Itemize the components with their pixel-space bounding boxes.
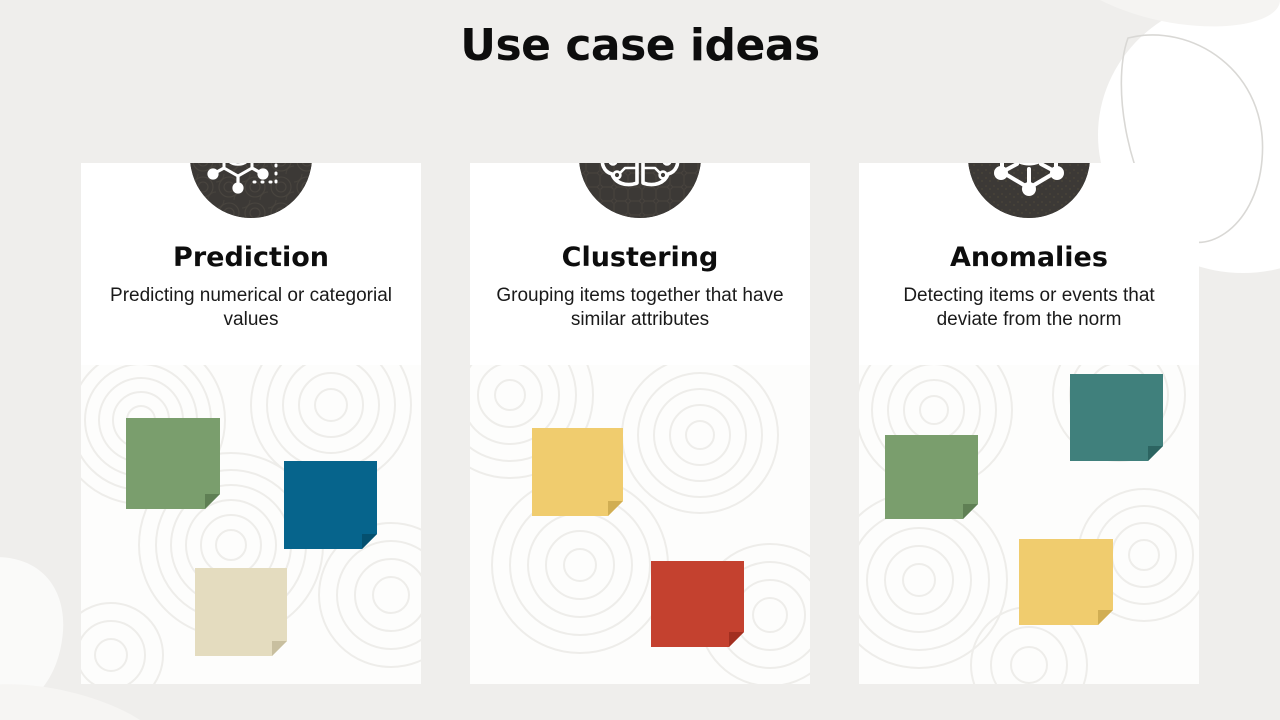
card-description: Grouping items together that have simila… [484, 284, 796, 333]
sticky-note-yellow[interactable] [532, 428, 623, 516]
sticky-note-beige[interactable] [195, 568, 287, 656]
brain-circuit-icon [579, 163, 701, 218]
card-illustration-area [81, 365, 421, 684]
sticky-note-green[interactable] [885, 435, 978, 519]
card-description: Predicting numerical or categorial value… [95, 284, 407, 333]
card-title: Anomalies [873, 243, 1185, 273]
card-title: Clustering [484, 243, 796, 273]
use-case-card-prediction[interactable]: Prediction Predicting numerical or categ… [81, 163, 421, 684]
use-case-card-clustering[interactable]: Clustering Grouping items together that … [470, 163, 810, 684]
swirl-pattern [470, 365, 810, 684]
card-description: Detecting items or events that deviate f… [873, 284, 1185, 333]
sticky-note-blue[interactable] [284, 461, 377, 549]
card-illustration-area [470, 365, 810, 684]
use-case-card-row: Prediction Predicting numerical or categ… [81, 163, 1199, 720]
sticky-note-red[interactable] [651, 561, 744, 647]
sticky-note-teal[interactable] [1070, 374, 1163, 461]
hexagon-network-eye-icon [968, 163, 1090, 218]
sticky-note-green[interactable] [126, 418, 220, 509]
card-title: Prediction [95, 243, 407, 273]
use-case-card-anomalies[interactable]: Anomalies Detecting items or events that… [859, 163, 1199, 684]
page-title: Use case ideas [0, 20, 1280, 71]
card-illustration-area [859, 365, 1199, 684]
sticky-note-yellow[interactable] [1019, 539, 1113, 625]
network-eye-lightbulb-icon [190, 163, 312, 218]
decor-blob-bottom-left [0, 557, 63, 720]
